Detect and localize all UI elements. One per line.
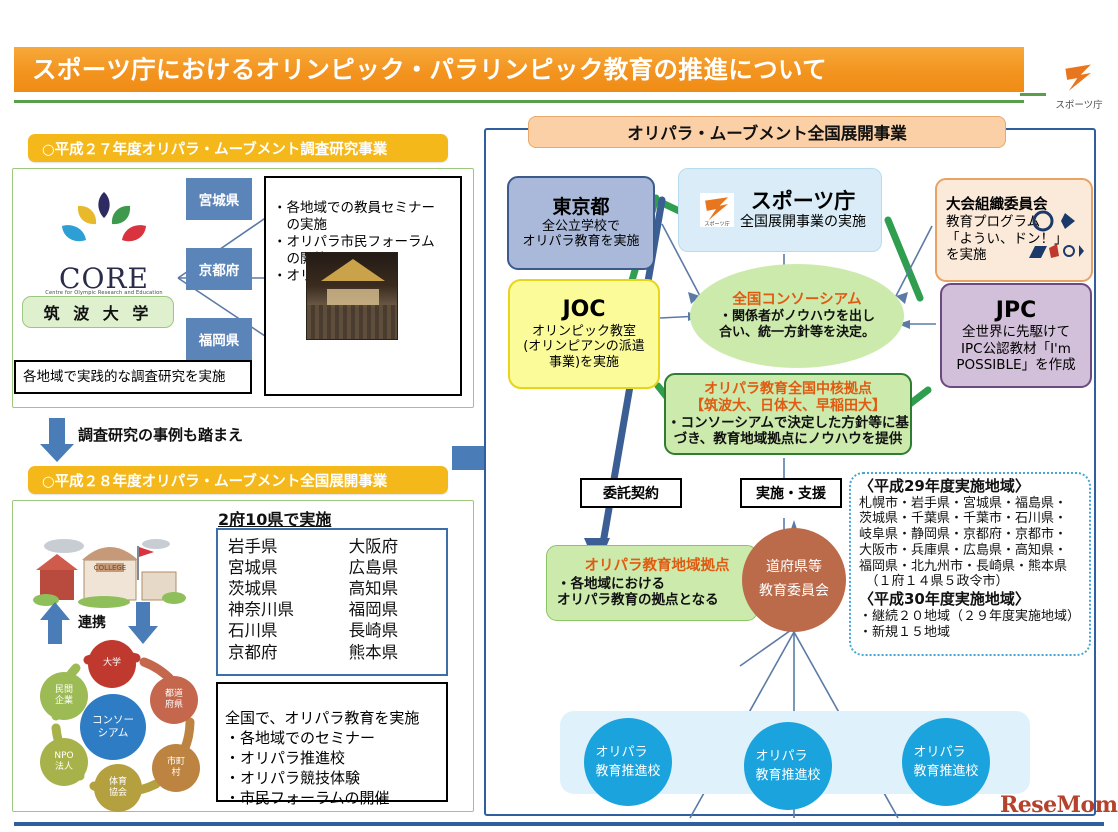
promotion-school-2: オリパラ 教育推進校 xyxy=(744,722,832,810)
consortium-wheel: 大学 都道 府県 市町 村 体育 協会 NPO 法人 民間 企業 コンソー シア… xyxy=(32,640,212,810)
sports-agency-logo-icon xyxy=(1062,62,1096,96)
summary-fy2015-text: 各地域で実践的な調査研究を実施 xyxy=(23,369,226,386)
promotion-school-1: オリパラ 教育推進校 xyxy=(584,718,672,806)
wheel-center-consortium: コンソー シアム xyxy=(80,694,146,760)
tsukuba-university-label: 筑 波 大 学 xyxy=(22,296,174,328)
prefecture-kyoto: 京都府 xyxy=(186,248,252,290)
node-education-board: 道府県等 教育委員会 xyxy=(742,528,846,632)
node-tokyo-title: 東京都 xyxy=(552,196,609,219)
node-joc: JOC オリンピック教室 (オリンピアンの派遣 事業)を実施 xyxy=(508,279,660,389)
page-title: スポーツ庁におけるオリンピック・パラリンピック教育の推進について xyxy=(32,52,1012,88)
watermark: ReseMom. xyxy=(1000,792,1118,818)
node-tokyo: 東京都 全公立学校で オリパラ教育を実施 xyxy=(507,176,655,270)
table-row: 岩手県大阪府 xyxy=(228,536,436,557)
region-h29-list: 札幌市・岩手県・宮城県・福島県・ 茨城県・千葉県・千葉市・石川県・ 岐阜県・静岡… xyxy=(859,496,1085,590)
node-consortium-title: 全国コンソーシアム xyxy=(732,292,861,309)
footer-rule xyxy=(14,822,1104,826)
renkei-label: 連携 xyxy=(78,612,106,632)
region-h30-heading: 〈平成30年度実施地域〉 xyxy=(859,590,1085,609)
school-illustration-icon: COLLEGE xyxy=(34,530,186,608)
region-h29-heading: 〈平成29年度実施地域〉 xyxy=(859,477,1085,496)
table-row: 茨城県高知県 xyxy=(228,578,436,599)
transition-arrow-icon xyxy=(40,418,74,462)
node-hub-sub: ・コンソーシアムで決定した方針等に基 づき、教育地域拠点にノウハウを提供 xyxy=(667,415,909,447)
node-national-core-hub: オリパラ教育全国中核拠点 【筑波大、日体大、早稲田大】 ・コンソーシアムで決定し… xyxy=(664,373,912,455)
wheel-node-university: 大学 xyxy=(88,640,136,688)
node-education-board-label: 道府県等 教育委員会 xyxy=(759,556,829,604)
node-jpc-title: JPC xyxy=(996,298,1036,324)
wheel-node-municipality: 市町 村 xyxy=(152,744,200,792)
infographic-page: スポーツ庁におけるオリンピック・パラリンピック教育の推進について スポーツ庁 ○… xyxy=(0,0,1118,832)
node-sports-agency-sub: 全国展開事業の実施 xyxy=(740,214,866,231)
banner-fy2016: ○平成２８年度オリパラ・ムーブメント全国展開事業 xyxy=(28,466,448,494)
node-jpc-sub: 全世界に先駆けて IPC公認教材「I'm POSSIBLE」を作成 xyxy=(956,324,1075,373)
node-tokyo-sub: 全公立学校で オリパラ教育を実施 xyxy=(522,219,639,250)
sports-agency-logo-caption: スポーツ庁 xyxy=(1048,97,1110,111)
node-jpc: JPC 全世界に先駆けて IPC公認教材「I'm POSSIBLE」を作成 xyxy=(940,283,1092,388)
promotion-school-3: オリパラ 教育推進校 xyxy=(902,718,990,806)
svg-text:COLLEGE: COLLEGE xyxy=(94,564,126,572)
sports-agency-badge-icon: スポーツ庁 xyxy=(700,193,734,227)
label-support: 実施・支援 xyxy=(740,478,842,508)
region-h30-list: ・継続２０地域（２９年度実施地域） ・新規１５地域 xyxy=(859,609,1085,640)
link-arrow-up-icon xyxy=(40,602,70,644)
node-sports-agency-title: スポーツ庁 xyxy=(751,189,856,214)
node-local-hub-sub: ・各地域における オリパラ教育の拠点となる xyxy=(557,576,719,608)
banner-fy2015: ○平成２７年度オリパラ・ムーブメント調査研究事業 xyxy=(28,134,448,162)
node-sports-agency: スポーツ庁 スポーツ庁 全国展開事業の実施 xyxy=(678,168,882,252)
summary-fy2015-box: 各地域で実践的な調査研究を実施 xyxy=(14,360,252,394)
core-logo-icon xyxy=(48,188,160,268)
wheel-node-private-company: 民間 企業 xyxy=(40,672,88,720)
node-joc-sub: オリンピック教室 (オリンピアンの派遣 事業)を実施 xyxy=(523,324,645,371)
header-divider xyxy=(14,100,1024,103)
wheel-node-npo: NPO 法人 xyxy=(40,738,88,786)
nationwide-activities-text: 全国で、オリパラ教育を実施 ・各地域でのセミナー ・オリパラ推進校 ・オリパラ競… xyxy=(225,709,419,807)
deploy-prefecture-list: 岩手県大阪府 宮城県広島県 茨城県高知県 神奈川県福岡県 石川県長崎県 京都府熊… xyxy=(216,528,448,676)
deploy-list-body: 岩手県大阪府 宮城県広島県 茨城県高知県 神奈川県福岡県 石川県長崎県 京都府熊… xyxy=(228,536,436,663)
table-row: 京都府熊本県 xyxy=(228,642,436,663)
wheel-node-sports-association: 体育 協会 xyxy=(94,764,142,812)
table-row: 神奈川県福岡県 xyxy=(228,599,436,620)
label-contract: 委託契約 xyxy=(580,478,682,508)
node-national-consortium: 全国コンソーシアム ・関係者がノウハウを出し 合い、統一方針等を決定。 xyxy=(690,264,904,368)
node-hub-title: オリパラ教育全国中核拠点 【筑波大、日体大、早稲田大】 xyxy=(690,381,886,415)
deploy-heading: 2府10県で実施 xyxy=(218,506,331,530)
region-list-box: 〈平成29年度実施地域〉 札幌市・岩手県・宮城県・福島県・ 茨城県・千葉県・千葉… xyxy=(849,472,1091,656)
tokyo2020-emblems-icon xyxy=(1031,210,1085,234)
wheel-node-prefecture: 都道 府県 xyxy=(150,676,198,724)
node-consortium-sub: ・関係者がノウハウを出し 合い、統一方針等を決定。 xyxy=(719,309,875,340)
prefecture-miyagi: 宮城県 xyxy=(186,178,252,220)
transition-note: 調査研究の事例も踏まえ xyxy=(78,424,243,445)
table-row: 石川県長崎県 xyxy=(228,620,436,641)
svg-text:スポーツ庁: スポーツ庁 xyxy=(704,220,729,227)
node-joc-title: JOC xyxy=(562,297,605,323)
link-arrow-down-icon xyxy=(128,602,158,644)
node-local-hub-title: オリパラ教育地域拠点 xyxy=(585,558,730,575)
node-organizing-committee: 大会組織委員会 教育プログラム 「ようい、ドン！」 を実施 xyxy=(935,178,1093,282)
node-local-hub: オリパラ教育地域拠点 ・各地域における オリパラ教育の拠点となる xyxy=(546,545,758,621)
paralympic-emblems-icon xyxy=(1025,242,1085,262)
table-row: 宮城県広島県 xyxy=(228,557,436,578)
logo-divider xyxy=(1020,93,1046,96)
prefecture-fukuoka: 福岡県 xyxy=(186,318,252,360)
nationwide-activities-box: 全国で、オリパラ教育を実施 ・各地域でのセミナー ・オリパラ推進校 ・オリパラ競… xyxy=(216,682,448,802)
forum-photo xyxy=(306,252,398,340)
